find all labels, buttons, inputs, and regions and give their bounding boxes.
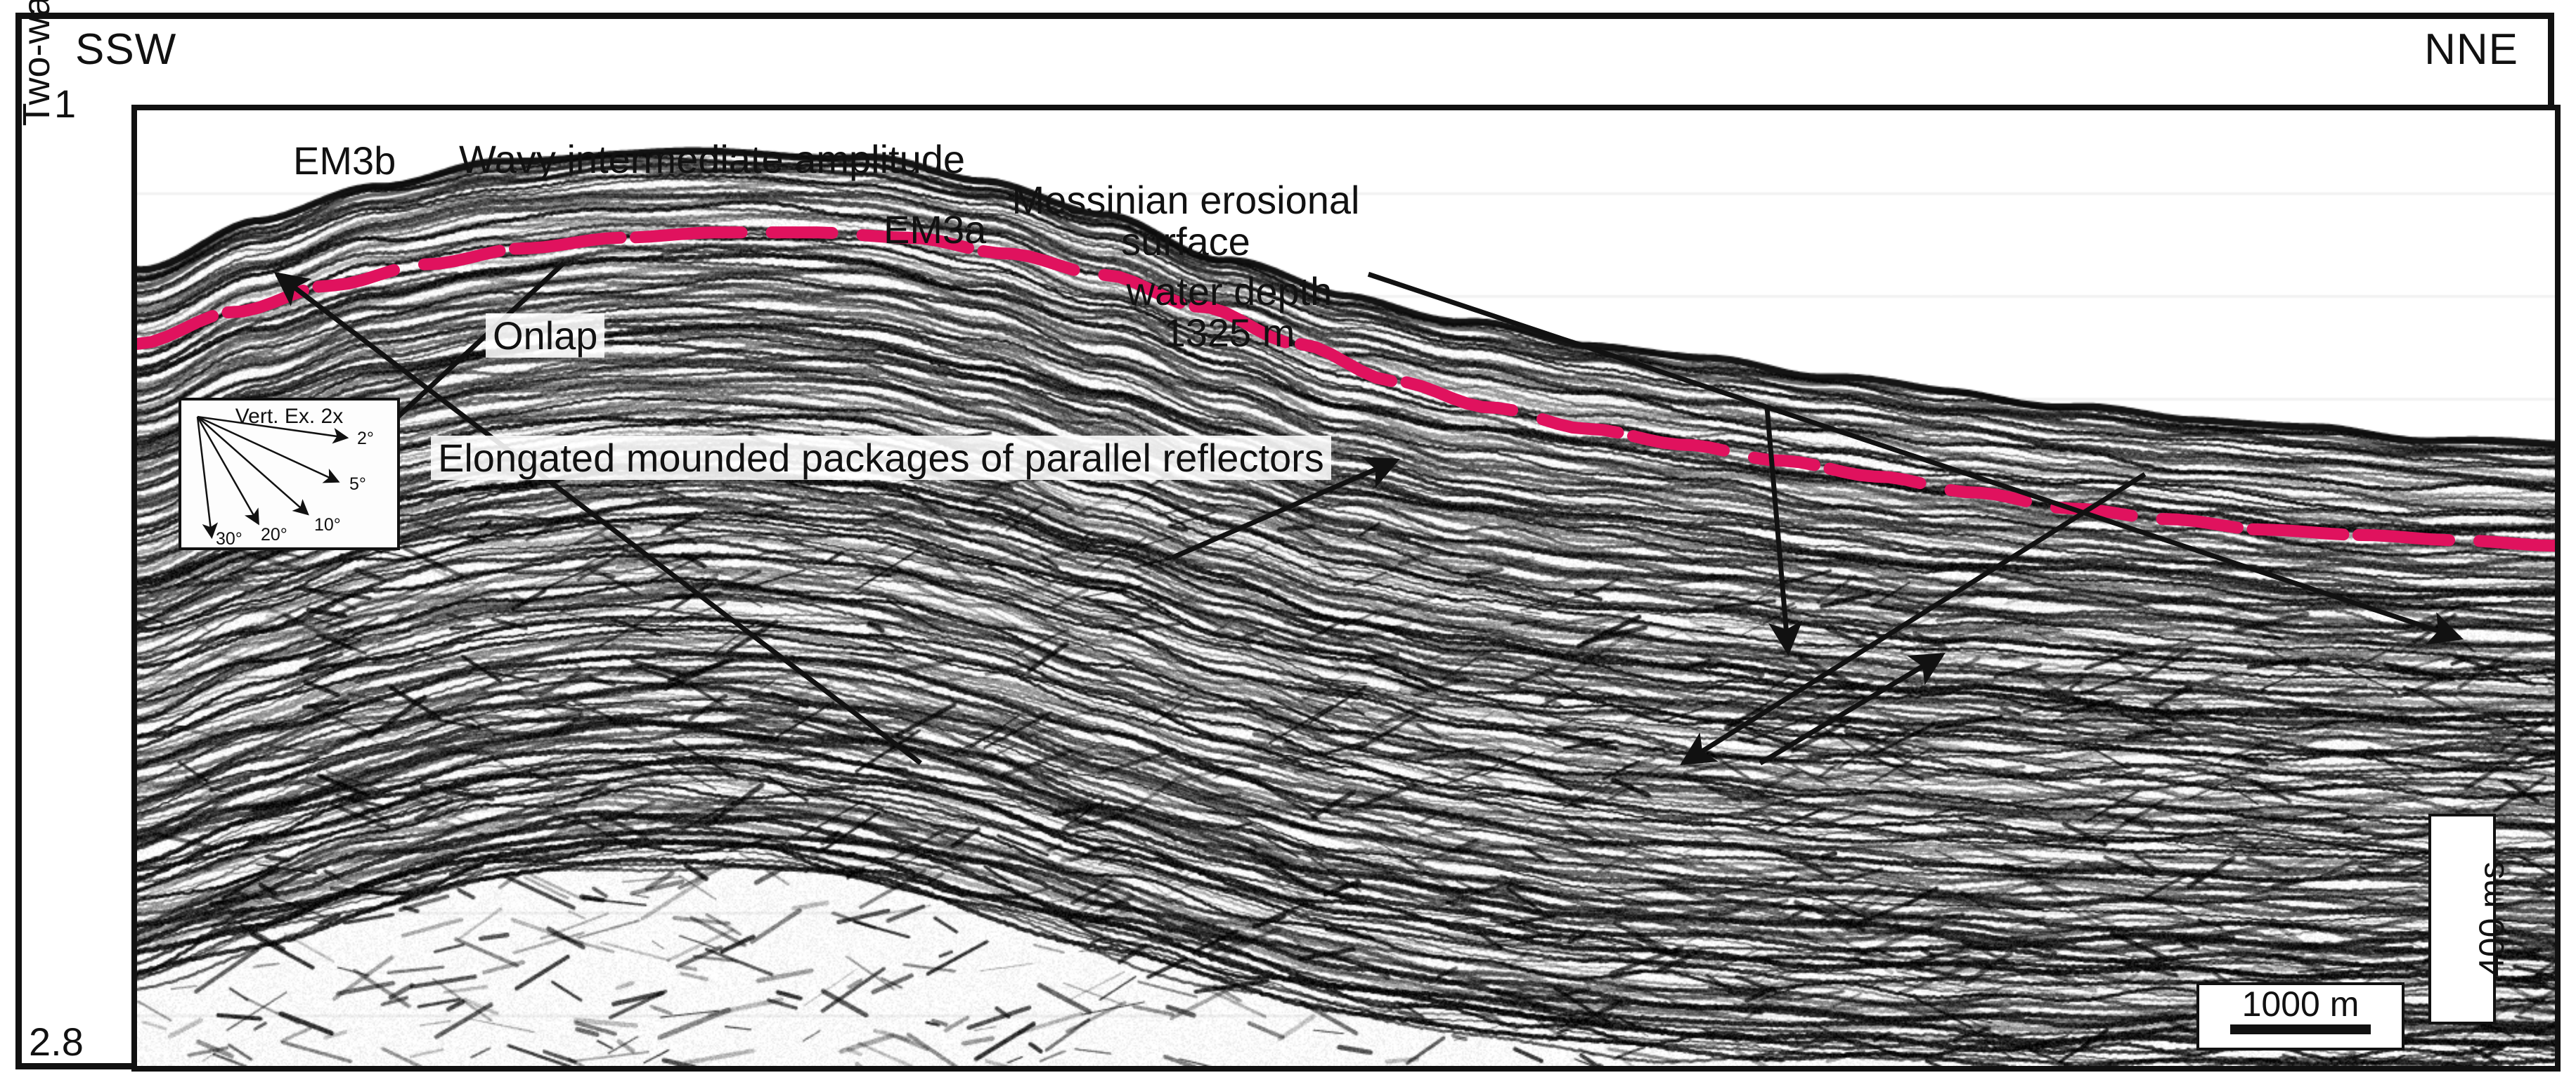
annotation-onlap: Onlap	[486, 313, 604, 358]
horizontal-scale-label: 1000 m	[2242, 987, 2360, 1022]
y-axis-tick-bottom: 2.8	[29, 1019, 84, 1065]
angle-label-20deg: 20°	[261, 525, 287, 545]
vertical-scale-label: 400 ms	[2474, 861, 2509, 977]
y-axis-tick-top: 1	[54, 81, 76, 126]
angle-label-10deg: 10°	[314, 515, 341, 535]
horizontal-scale-bar: 1000 m	[2196, 982, 2405, 1050]
annotation-water-depth: water depth 1325 m	[1096, 271, 1363, 354]
angle-label-30deg: 30°	[216, 529, 242, 549]
annotation-messinian-erosional-surface: Messinian erosional surface	[968, 179, 1404, 263]
annotation-em3a: EM3a	[884, 209, 986, 250]
angle-label-5deg: 5°	[349, 474, 366, 495]
seismic-figure: SSW NNE Two-way travel time (s) 1 2.8 EM…	[0, 0, 2576, 1087]
horizontal-scale-rule	[2230, 1024, 2371, 1034]
angle-label-2deg: 2°	[357, 429, 374, 449]
outer-frame: SSW NNE Two-way travel time (s) 1 2.8 EM…	[15, 13, 2554, 1069]
annotation-wavy-intermediate-amplitude: Wavy intermediate amplitude	[459, 138, 965, 180]
orientation-label-nne: NNE	[2424, 25, 2518, 74]
vertical-exaggeration-inset: Vert. Ex. 2x 2°	[179, 398, 400, 550]
annotation-elongated-mounded-packages: Elongated mounded packages of parallel r…	[431, 436, 1331, 480]
orientation-label-ssw: SSW	[75, 25, 176, 74]
vertical-scale-bar: 400 ms	[2428, 814, 2496, 1024]
annotation-em3b: EM3b	[293, 140, 396, 181]
seismic-panel: EM3b Wavy intermediate amplitude Messini…	[131, 105, 2561, 1072]
y-axis-title: Two-way travel time (s)	[15, 0, 58, 128]
